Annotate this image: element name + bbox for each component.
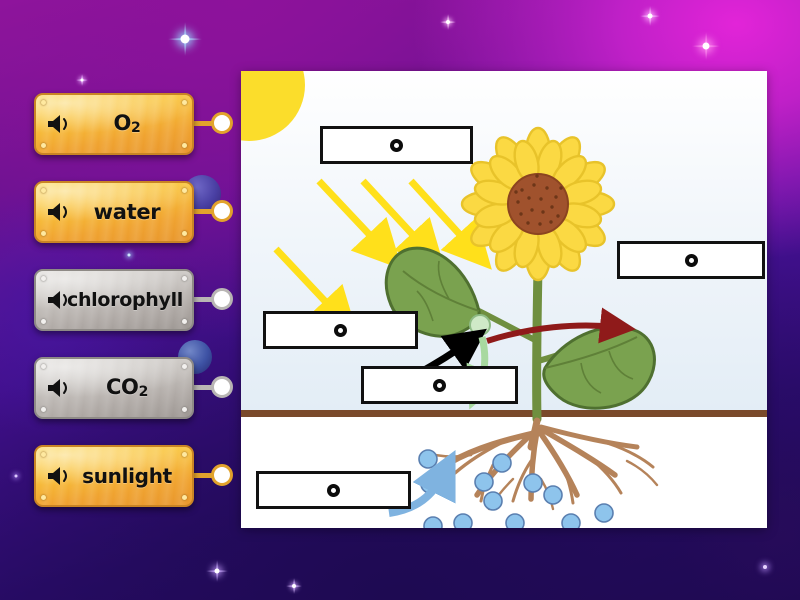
answer-box-chlorophyll[interactable] (361, 366, 518, 404)
word-tile-label-water: water (70, 202, 184, 223)
speaker-icon[interactable] (46, 377, 72, 399)
drop-target-dot[interactable] (327, 484, 340, 497)
drop-knob-sunlight[interactable] (211, 464, 233, 486)
lower-leaf (544, 327, 655, 408)
speaker-icon[interactable] (46, 465, 72, 487)
bolt-icon (182, 231, 187, 236)
bolt-icon (41, 364, 46, 369)
bolt-icon (41, 100, 46, 105)
bolt-icon (182, 143, 187, 148)
word-tile-water[interactable]: water (34, 181, 194, 243)
answer-box-o2[interactable] (617, 241, 765, 279)
word-tile-o2[interactable]: O2 (34, 93, 194, 155)
bolt-icon (182, 452, 187, 457)
bolt-icon (41, 143, 46, 148)
speaker-icon[interactable] (46, 113, 72, 135)
word-tile-chlorophyll[interactable]: chlorophyll (34, 269, 194, 331)
word-tile-sunlight[interactable]: sunlight (34, 445, 194, 507)
drop-target-dot[interactable] (685, 254, 698, 267)
bolt-icon (182, 100, 187, 105)
drop-knob-o2[interactable] (211, 112, 233, 134)
drop-knob-chlorophyll[interactable] (211, 288, 233, 310)
drop-target-dot[interactable] (334, 324, 347, 337)
answer-box-sunlight[interactable] (320, 126, 473, 164)
bolt-icon (182, 364, 187, 369)
answer-box-co2[interactable] (263, 311, 418, 349)
bolt-icon (41, 319, 46, 324)
drop-target-dot[interactable] (390, 139, 403, 152)
bolt-icon (41, 407, 46, 412)
drop-knob-co2[interactable] (211, 376, 233, 398)
word-tile-label-sunlight: sunlight (70, 466, 184, 486)
answer-box-water[interactable] (256, 471, 411, 509)
drop-knob-water[interactable] (211, 200, 233, 222)
bolt-icon (41, 276, 46, 281)
drop-target-dot[interactable] (433, 379, 446, 392)
bolt-icon (41, 188, 46, 193)
bolt-icon (182, 276, 187, 281)
bolt-icon (41, 231, 46, 236)
speaker-icon[interactable] (46, 201, 72, 223)
word-tile-label-co2: CO2 (70, 377, 184, 399)
word-tile-co2[interactable]: CO2 (34, 357, 194, 419)
bolt-icon (182, 407, 187, 412)
bolt-icon (182, 495, 187, 500)
bolt-icon (41, 452, 46, 457)
sunflower-head (462, 128, 614, 280)
bolt-icon (41, 495, 46, 500)
bolt-icon (182, 188, 187, 193)
root-system (427, 421, 657, 509)
word-tile-label-chlorophyll: chlorophyll (66, 291, 184, 310)
word-tile-label-o2: O2 (70, 113, 184, 135)
bolt-icon (182, 319, 187, 324)
photosynthesis-diagram-panel (241, 71, 767, 528)
